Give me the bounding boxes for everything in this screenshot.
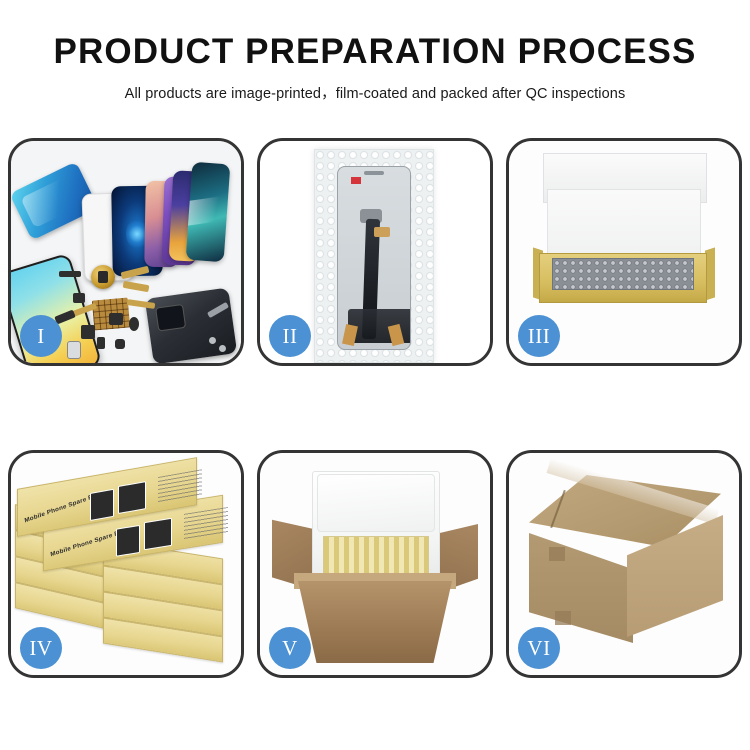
- foam-sheet-graphic: [547, 189, 701, 259]
- red-label-graphic: [351, 177, 361, 184]
- bubble-wrap-graphic: [314, 149, 434, 363]
- teal-screen-graphic: [186, 162, 231, 262]
- header: PRODUCT PREPARATION PROCESS All products…: [0, 0, 750, 103]
- small-part-graphic: [59, 271, 81, 277]
- small-part-graphic: [73, 293, 85, 303]
- small-part-graphic: [115, 339, 125, 349]
- page-subtitle: All products are image-printed，film-coat…: [0, 82, 750, 103]
- step-badge-5: V: [269, 627, 311, 669]
- process-step-panel-1: I: [8, 138, 244, 366]
- tape-graphic: [374, 227, 390, 237]
- screw-graphic: [219, 345, 226, 352]
- screen-print-graphic: [118, 481, 146, 514]
- page-title: PRODUCT PREPARATION PROCESS: [0, 34, 750, 71]
- step-badge-6: VI: [518, 627, 560, 669]
- screen-print-graphic: [116, 525, 140, 557]
- process-step-panel-6: VI: [506, 450, 742, 678]
- carton-body-graphic: [298, 581, 452, 663]
- small-part-graphic: [81, 325, 95, 339]
- step-badge-3: III: [518, 315, 560, 357]
- small-part-graphic: [67, 341, 81, 359]
- step-badge-1: I: [20, 315, 62, 357]
- screen-print-graphic: [90, 489, 114, 521]
- small-part-graphic: [97, 337, 105, 349]
- lcd-screen-graphic: [337, 166, 411, 350]
- step-badge-4: IV: [20, 627, 62, 669]
- process-step-panel-4: Mobile Phone Spare Parts Mobile Phone Sp…: [8, 450, 244, 678]
- styrofoam-lid-graphic: [317, 474, 435, 532]
- process-step-grid: I II: [8, 138, 742, 678]
- carton-tab-graphic: [549, 547, 565, 561]
- small-part-graphic: [129, 317, 139, 331]
- spec-text-graphic: [184, 507, 228, 540]
- process-step-panel-3: III: [506, 138, 742, 366]
- process-step-panel-5: V: [257, 450, 493, 678]
- kraft-box-tray-graphic: [539, 253, 707, 303]
- carton-tab-graphic: [555, 611, 571, 625]
- screen-print-graphic: [144, 518, 172, 550]
- small-part-graphic: [109, 313, 123, 325]
- grey-bubble-wrap-graphic: [552, 258, 694, 290]
- step-badge-2: II: [269, 315, 311, 357]
- process-step-panel-2: II: [257, 138, 493, 366]
- spec-text-graphic: [158, 469, 202, 503]
- wireless-coil-graphic: [91, 265, 115, 289]
- screw-graphic: [209, 337, 216, 344]
